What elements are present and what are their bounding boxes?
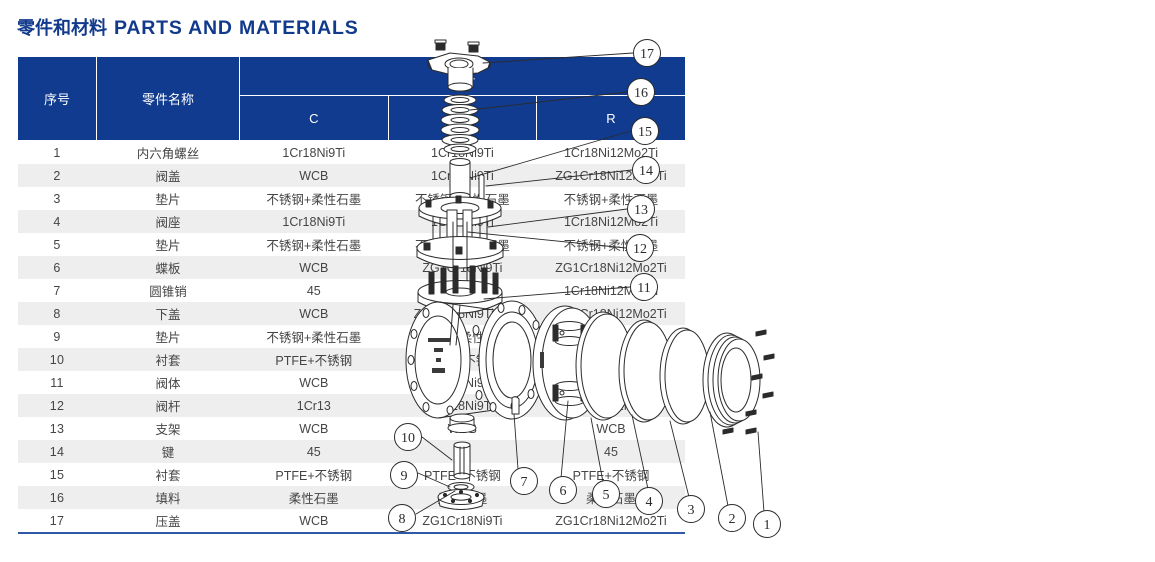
part-packing-rings-16 xyxy=(441,95,479,154)
part-taper-pin-7 xyxy=(512,397,519,414)
svg-text:5: 5 xyxy=(603,488,610,503)
svg-text:10: 10 xyxy=(401,431,415,446)
callout-17: 17 xyxy=(634,40,661,67)
part-gasket-3 xyxy=(660,328,709,424)
callout-11: 11 xyxy=(631,274,658,301)
part-bottom-cover-8 xyxy=(438,490,484,510)
callout-13: 13 xyxy=(628,196,655,223)
svg-text:16: 16 xyxy=(634,86,648,101)
valve-exploded-diagram: 17 16 15 14 13 12 11 10 9 8 7 6 5 4 3 2 … xyxy=(700,0,1155,562)
svg-text:13: 13 xyxy=(634,203,648,218)
svg-text:17: 17 xyxy=(640,47,654,62)
part-bushing-15 xyxy=(450,159,470,200)
callout-2: 2 xyxy=(719,505,746,532)
part-gland-17 xyxy=(428,40,490,91)
svg-text:1: 1 xyxy=(764,518,771,533)
svg-text:7: 7 xyxy=(521,475,528,490)
svg-text:15: 15 xyxy=(638,125,652,140)
svg-text:6: 6 xyxy=(560,484,567,499)
callout-8: 8 xyxy=(389,505,416,532)
callout-16: 16 xyxy=(628,79,655,106)
svg-text:3: 3 xyxy=(688,503,695,518)
callout-5: 5 xyxy=(593,481,620,508)
callout-3: 3 xyxy=(678,496,705,523)
callout-9: 9 xyxy=(391,462,418,489)
callout-14: 14 xyxy=(633,157,660,184)
part-key-14 xyxy=(479,175,484,200)
callout-15: 15 xyxy=(632,118,659,145)
part-bracket-13 xyxy=(417,196,503,268)
svg-text:14: 14 xyxy=(639,164,653,179)
part-valve-body-11 xyxy=(406,301,545,433)
svg-text:8: 8 xyxy=(399,512,406,527)
svg-text:11: 11 xyxy=(637,281,650,296)
svg-text:2: 2 xyxy=(729,512,736,527)
callout-12: 12 xyxy=(627,235,654,262)
svg-text:12: 12 xyxy=(633,242,647,257)
callout-1: 1 xyxy=(754,511,781,538)
callout-10: 10 xyxy=(395,424,422,451)
svg-text:4: 4 xyxy=(646,495,653,510)
callout-4: 4 xyxy=(636,488,663,515)
callout-7: 7 xyxy=(511,468,538,495)
part-bushing-10 xyxy=(454,442,470,479)
svg-text:9: 9 xyxy=(401,469,408,484)
callout-6: 6 xyxy=(550,477,577,504)
